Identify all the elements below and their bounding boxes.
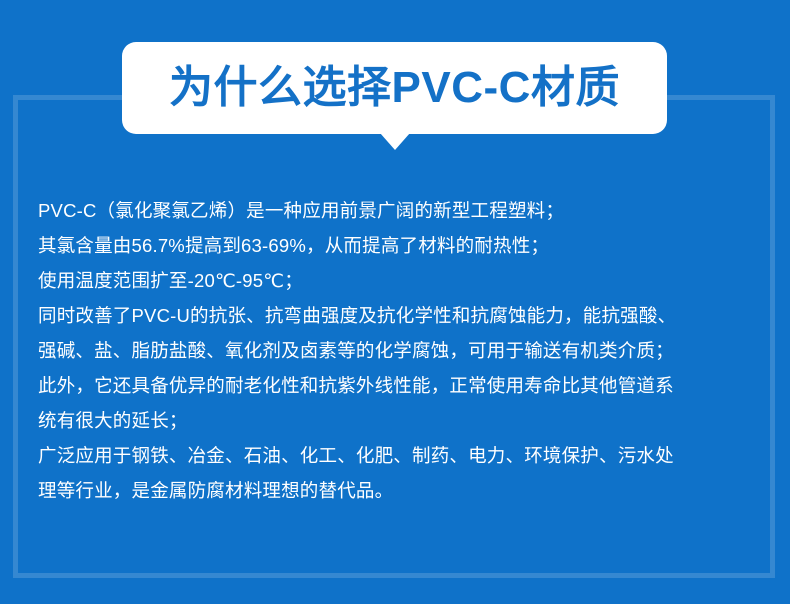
body-line: 统有很大的延长；: [38, 403, 758, 438]
triangle-down-icon: [380, 133, 410, 150]
body-line: 强碱、盐、脂肪盐酸、氧化剂及卤素等的化学腐蚀，可用于输送有机类介质；: [38, 333, 758, 368]
body-line: 其氯含量由56.7%提高到63-69%，从而提高了材料的耐热性；: [38, 228, 758, 263]
promo-poster: 为什么选择PVC-C材质 PVC-C（氯化聚氯乙烯）是一种应用前景广阔的新型工程…: [0, 0, 790, 604]
body-line: 使用温度范围扩至-20℃-95℃；: [38, 263, 758, 298]
body-line: 广泛应用于钢铁、冶金、石油、化工、化肥、制药、电力、环境保护、污水处: [38, 438, 758, 473]
body-line: 此外，它还具备优异的耐老化性和抗紫外线性能，正常使用寿命比其他管道系: [38, 368, 758, 403]
body-line: PVC-C（氯化聚氯乙烯）是一种应用前景广阔的新型工程塑料；: [38, 193, 758, 228]
title-card: 为什么选择PVC-C材质: [122, 42, 667, 134]
body-line: 理等行业，是金属防腐材料理想的替代品。: [38, 473, 758, 508]
body-line: 同时改善了PVC-U的抗张、抗弯曲强度及抗化学性和抗腐蚀能力，能抗强酸、: [38, 298, 758, 333]
body-copy: PVC-C（氯化聚氯乙烯）是一种应用前景广阔的新型工程塑料； 其氯含量由56.7…: [38, 193, 758, 508]
page-title: 为什么选择PVC-C材质: [169, 66, 620, 110]
